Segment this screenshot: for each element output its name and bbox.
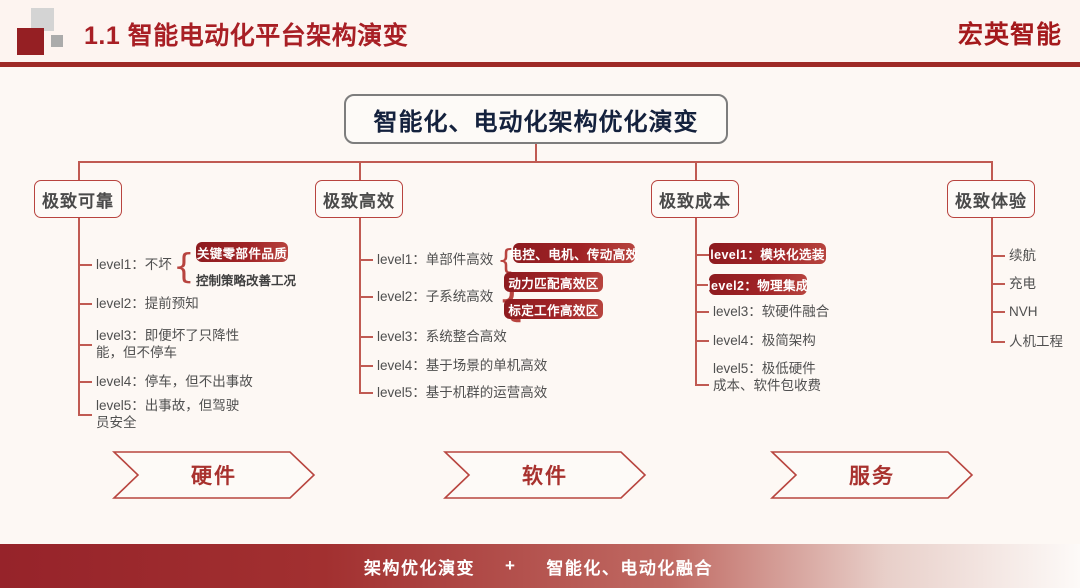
root-node-label: 智能化、电动化架构优化演变 bbox=[374, 102, 699, 137]
footer-right-text: 智能化、电动化融合 bbox=[546, 554, 713, 579]
connector-drop-0 bbox=[78, 161, 80, 180]
leaf-tick bbox=[359, 336, 373, 338]
column-spine-0 bbox=[78, 218, 80, 414]
category-label: 极致成本 bbox=[659, 187, 731, 212]
footer-content: 架构优化演变 + 智能化、电动化融合 bbox=[364, 554, 713, 579]
header-divider bbox=[0, 62, 1080, 67]
leaf-item: level1：单部件高效 bbox=[377, 251, 493, 268]
category-box-experience[interactable]: 极致体验 bbox=[947, 180, 1035, 218]
leaf-item: NVH bbox=[1009, 303, 1038, 320]
root-node: 智能化、电动化架构优化演变 bbox=[344, 94, 728, 144]
leaf-tick bbox=[991, 341, 1005, 343]
leaf-item: 人机工程 bbox=[1009, 333, 1063, 350]
leaf-tick bbox=[991, 255, 1005, 257]
column-spine-2 bbox=[695, 218, 697, 384]
leaf-item: level2：子系统高效 bbox=[377, 288, 493, 305]
leaf-tick bbox=[78, 414, 92, 416]
leaf-item: level5：基于机群的运营高效 bbox=[377, 384, 547, 401]
category-label: 极致体验 bbox=[955, 187, 1027, 212]
category-label: 极致可靠 bbox=[42, 187, 114, 212]
leaf-item-badge-modular: level1：模块化选装 bbox=[709, 243, 826, 264]
leaf-item: level4：停车，但不出事故 bbox=[96, 373, 253, 390]
column-spine-3 bbox=[991, 218, 993, 343]
badge-key-component-quality: 关键零部件品质 bbox=[196, 242, 288, 262]
connector-bus bbox=[78, 161, 992, 163]
chevron-hardware[interactable]: 硬件 bbox=[112, 450, 316, 500]
brace-icon: { bbox=[173, 250, 195, 284]
leaf-tick bbox=[359, 365, 373, 367]
category-label: 极致高效 bbox=[323, 187, 395, 212]
leaf-tick bbox=[78, 303, 92, 305]
leaf-tick bbox=[695, 384, 709, 386]
leaf-item: level4：极简架构 bbox=[713, 332, 816, 349]
decor-gray-square bbox=[51, 35, 63, 47]
slide-footer: 架构优化演变 + 智能化、电动化融合 bbox=[0, 544, 1080, 588]
chevron-service[interactable]: 服务 bbox=[770, 450, 974, 500]
leaf-item-badge-physical-integration: level2：物理集成 bbox=[709, 274, 807, 295]
leaf-tick bbox=[359, 259, 373, 261]
leaf-tick bbox=[78, 344, 92, 346]
leaf-tick bbox=[695, 340, 709, 342]
leaf-item: level1：不坏 bbox=[96, 256, 172, 273]
connector-drop-2 bbox=[695, 161, 697, 180]
badge-power-match-zone: 动力匹配高效区 bbox=[504, 272, 603, 292]
leaf-tick bbox=[359, 392, 373, 394]
leaf-tick bbox=[78, 264, 92, 266]
category-box-cost[interactable]: 极致成本 bbox=[651, 180, 739, 218]
category-box-efficiency[interactable]: 极致高效 bbox=[315, 180, 403, 218]
leaf-item: level3：系统整合高效 bbox=[377, 328, 507, 345]
leaf-tick bbox=[359, 296, 373, 298]
slide-header: 1.1 智能电动化平台架构演变 宏英智能 bbox=[0, 0, 1080, 62]
leaf-item: level5：极低硬件 成本、软件包收费 bbox=[713, 360, 821, 394]
leaf-item: 充电 bbox=[1009, 275, 1036, 292]
footer-left-text: 架构优化演变 bbox=[364, 554, 475, 579]
leaf-item: level3：软硬件融合 bbox=[713, 303, 829, 320]
leaf-tick bbox=[695, 254, 709, 256]
leaf-item: level4：基于场景的单机高效 bbox=[377, 357, 547, 374]
connector-trunk bbox=[535, 144, 537, 162]
chevron-label: 服务 bbox=[849, 460, 895, 490]
slide-canvas: 1.1 智能电动化平台架构演变 宏英智能 智能化、电动化架构优化演变 极致可靠 … bbox=[0, 0, 1080, 588]
leaf-item: 续航 bbox=[1009, 247, 1036, 264]
decor-red-square bbox=[17, 28, 44, 55]
badge-ec-motor-drive: 电控、电机、传动高效 bbox=[513, 243, 635, 263]
page-title: 1.1 智能电动化平台架构演变 bbox=[84, 16, 408, 52]
connector-drop-3 bbox=[991, 161, 993, 180]
leaf-item: level5：出事故，但驾驶 员安全 bbox=[96, 397, 239, 431]
leaf-tick bbox=[991, 283, 1005, 285]
brand-logo: 宏英智能 bbox=[958, 15, 1062, 51]
leaf-item: level2：提前预知 bbox=[96, 295, 199, 312]
chevron-software[interactable]: 软件 bbox=[443, 450, 647, 500]
badge-control-strategy-text: 控制策略改善工况 bbox=[196, 273, 296, 290]
leaf-tick bbox=[78, 381, 92, 383]
leaf-tick bbox=[991, 311, 1005, 313]
category-box-reliability[interactable]: 极致可靠 bbox=[34, 180, 122, 218]
badge-calibration-zone: 标定工作高效区 bbox=[504, 299, 603, 319]
footer-plus-sign: + bbox=[505, 556, 516, 576]
leaf-item: level3：即便坏了只降性 能，但不停车 bbox=[96, 327, 239, 361]
leaf-tick bbox=[695, 311, 709, 313]
connector-drop-1 bbox=[359, 161, 361, 180]
chevron-label: 软件 bbox=[522, 460, 568, 490]
chevron-label: 硬件 bbox=[191, 460, 237, 490]
